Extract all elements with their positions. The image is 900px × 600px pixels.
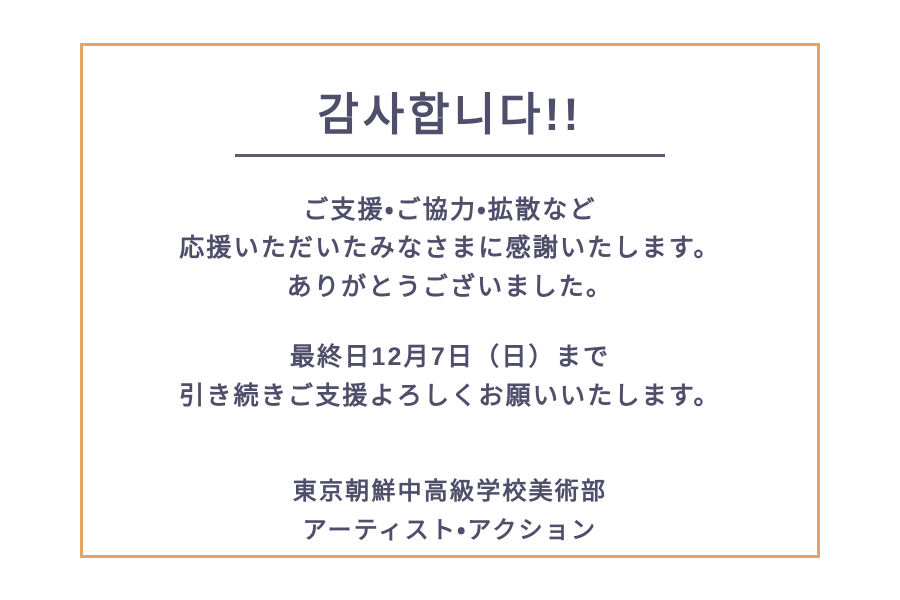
paragraph-gratitude: ご支援・ご協力・拡散など 応援いただいたみなさまに感謝いたします。 ありがとうご… [179,191,721,307]
paragraph-line: ご支援・ご協力・拡散など [179,191,721,230]
poster-canvas: 감사합니다!! ご支援・ご協力・拡散など 応援いただいたみなさまに感謝いたします… [0,0,900,600]
page-title: 감사합니다!! [318,90,583,140]
paragraph-line: ありがとうございました。 [179,268,721,307]
paragraph-line: 応援いただいたみなさまに感謝いたします。 [179,229,721,268]
signature-block: 東京朝鮮中高級学校美術部 アーティスト・アクション [293,473,607,550]
paragraph-line: 引き続きご支援よろしくお願いいたします。 [179,377,721,416]
paragraph-line: 最終日12月7日（日）まで [179,338,721,377]
title-divider [235,154,665,157]
paragraph-final-day: 最終日12月7日（日）まで 引き続きご支援よろしくお願いいたします。 [179,338,721,416]
signature-group: アーティスト・アクション [293,512,607,550]
signature-organization: 東京朝鮮中高級学校美術部 [293,473,607,511]
poster-frame-border: 감사합니다!! ご支援・ご協力・拡散など 応援いただいたみなさまに感謝いたします… [80,43,820,558]
poster-content: 감사합니다!! ご支援・ご協力・拡散など 応援いただいたみなさまに感謝いたします… [83,46,817,555]
